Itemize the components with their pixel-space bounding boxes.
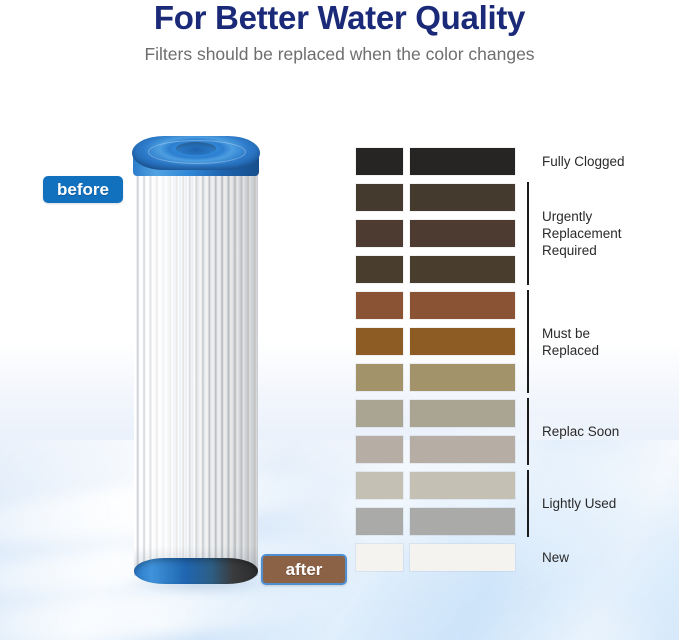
filter-sheen xyxy=(134,166,258,570)
color-swatch-wide xyxy=(410,220,515,247)
group-label: Fully Clogged xyxy=(542,153,625,170)
swatch-row xyxy=(356,472,666,508)
color-swatch-wide xyxy=(410,400,515,427)
filter-top-cap xyxy=(132,136,260,170)
color-swatch-narrow xyxy=(356,184,403,211)
swatch-row xyxy=(356,328,666,364)
color-swatch-narrow xyxy=(356,400,403,427)
color-condition-chart: Fully CloggedUrgently Replacement Requir… xyxy=(356,148,666,580)
group-label: Must be Replaced xyxy=(542,325,599,359)
color-swatch-wide xyxy=(410,148,515,175)
color-swatch-narrow xyxy=(356,256,403,283)
color-swatch-wide xyxy=(410,436,515,463)
group-label: Urgently Replacement Required xyxy=(542,208,622,259)
color-swatch-wide xyxy=(410,472,515,499)
page-subtitle: Filters should be replaced when the colo… xyxy=(0,42,679,66)
swatch-row xyxy=(356,544,666,580)
color-swatch-narrow xyxy=(356,544,403,571)
group-bracket xyxy=(527,398,529,465)
group-label: Lightly Used xyxy=(542,495,616,512)
color-swatch-wide xyxy=(410,508,515,535)
group-label: Replac Soon xyxy=(542,423,619,440)
filter-pleated-body xyxy=(134,166,258,570)
color-swatch-wide xyxy=(410,544,515,571)
water-filter-cartridge xyxy=(132,136,260,588)
badge-after: after xyxy=(261,554,347,585)
badge-before: before xyxy=(43,176,123,203)
page-title: For Better Water Quality xyxy=(0,0,679,36)
color-swatch-wide xyxy=(410,328,515,355)
color-swatch-narrow xyxy=(356,220,403,247)
filter-cap-hole xyxy=(176,142,216,155)
color-swatch-narrow xyxy=(356,472,403,499)
color-swatch-narrow xyxy=(356,292,403,319)
swatch-row xyxy=(356,292,666,328)
swatch-row xyxy=(356,508,666,544)
swatch-row xyxy=(356,436,666,472)
infographic-canvas: For Better Water Quality Filters should … xyxy=(0,0,679,640)
color-swatch-wide xyxy=(410,184,515,211)
filter-bottom-ring xyxy=(134,558,258,584)
swatch-row xyxy=(356,364,666,400)
group-bracket xyxy=(527,182,529,285)
color-swatch-narrow xyxy=(356,436,403,463)
color-swatch-narrow xyxy=(356,148,403,175)
group-bracket xyxy=(527,470,529,537)
color-swatch-narrow xyxy=(356,364,403,391)
color-swatch-narrow xyxy=(356,508,403,535)
color-swatch-wide xyxy=(410,256,515,283)
group-label: New xyxy=(542,549,569,566)
group-bracket xyxy=(527,290,529,393)
color-swatch-wide xyxy=(410,292,515,319)
swatch-row xyxy=(356,400,666,436)
color-swatch-wide xyxy=(410,364,515,391)
color-swatch-narrow xyxy=(356,328,403,355)
swatch-row xyxy=(356,256,666,292)
